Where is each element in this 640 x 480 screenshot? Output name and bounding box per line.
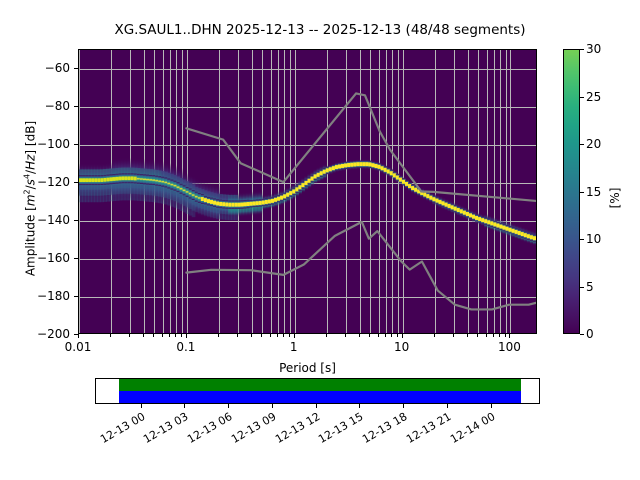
x-minor-tick bbox=[434, 334, 435, 337]
timeline-tick bbox=[228, 404, 229, 408]
figure-title-text: XG.SAUL1..DHN 2025-12-13 -- 2025-12-13 (… bbox=[114, 22, 525, 38]
x-minor-tick bbox=[129, 334, 130, 337]
x-minor-tick bbox=[453, 334, 454, 337]
x-minor-tick bbox=[499, 334, 500, 337]
colorbar-tick bbox=[580, 144, 584, 145]
x-minor-tick bbox=[391, 334, 392, 337]
noise-model-nhnm bbox=[186, 93, 536, 201]
x-major-tick bbox=[509, 334, 510, 338]
x-minor-tick bbox=[110, 334, 111, 337]
colorbar-tick bbox=[580, 239, 584, 240]
x-minor-tick bbox=[467, 334, 468, 337]
x-minor-tick bbox=[277, 334, 278, 337]
x-minor-tick bbox=[486, 334, 487, 337]
colorbar-tick-label: 20 bbox=[586, 137, 601, 151]
y-axis-label: Amplitude [m2/s4/Hz] [dB] bbox=[23, 89, 38, 309]
y-major-tick bbox=[74, 220, 78, 221]
colorbar-tick-label: 10 bbox=[586, 232, 601, 246]
x-minor-tick bbox=[143, 334, 144, 337]
x-major-tick bbox=[294, 334, 295, 338]
y-major-tick bbox=[74, 258, 78, 259]
x-minor-tick bbox=[237, 334, 238, 337]
y-major-tick bbox=[74, 144, 78, 145]
timeline-tick bbox=[359, 404, 360, 408]
x-minor-tick bbox=[385, 334, 386, 337]
timeline-tick bbox=[316, 404, 317, 408]
x-minor-tick bbox=[283, 334, 284, 337]
x-tick-label: 10 bbox=[394, 340, 409, 354]
data-coverage-bar bbox=[119, 391, 521, 403]
x-minor-tick bbox=[378, 334, 379, 337]
x-major-tick bbox=[402, 334, 403, 338]
x-minor-tick bbox=[369, 334, 370, 337]
x-minor-tick bbox=[270, 334, 271, 337]
y-axis-label-text: Amplitude [m2/s4/Hz] [dB] bbox=[24, 121, 38, 276]
colorbar-tick-label: 0 bbox=[586, 327, 594, 341]
timeline-tick bbox=[141, 404, 142, 408]
colorbar-tick bbox=[580, 287, 584, 288]
y-tick-label: −60 bbox=[22, 61, 70, 75]
colorbar-tick bbox=[580, 334, 584, 335]
ppsd-figure: XG.SAUL1..DHN 2025-12-13 -- 2025-12-13 (… bbox=[0, 0, 640, 480]
colorbar-tick-label: 30 bbox=[586, 42, 601, 56]
timeline-tick bbox=[491, 404, 492, 408]
x-tick-label: 1 bbox=[290, 340, 298, 354]
y-major-tick bbox=[74, 334, 78, 335]
y-major-tick bbox=[74, 296, 78, 297]
x-minor-tick bbox=[359, 334, 360, 337]
x-minor-tick bbox=[493, 334, 494, 337]
x-minor-tick bbox=[169, 334, 170, 337]
peterson-noise-models bbox=[79, 50, 536, 333]
colorbar-tick-label: 25 bbox=[586, 90, 601, 104]
colorbar-tick-label: 15 bbox=[586, 185, 601, 199]
figure-title: XG.SAUL1..DHN 2025-12-13 -- 2025-12-13 (… bbox=[0, 22, 640, 38]
colorbar-tick bbox=[580, 49, 584, 50]
colorbar-label: [%] bbox=[608, 138, 622, 258]
y-major-tick bbox=[74, 182, 78, 183]
x-tick-label: 100 bbox=[498, 340, 521, 354]
x-major-tick bbox=[78, 334, 79, 338]
x-minor-tick bbox=[181, 334, 182, 337]
x-minor-tick bbox=[153, 334, 154, 337]
timeline-tick bbox=[447, 404, 448, 408]
x-minor-tick bbox=[345, 334, 346, 337]
x-minor-tick bbox=[218, 334, 219, 337]
x-minor-tick bbox=[326, 334, 327, 337]
x-axis-label: Period [s] bbox=[78, 361, 537, 375]
x-minor-tick bbox=[175, 334, 176, 337]
colorbar-tick-label: 5 bbox=[586, 280, 594, 294]
colorbar-tick bbox=[580, 192, 584, 193]
x-minor-tick bbox=[505, 334, 506, 337]
x-minor-tick bbox=[397, 334, 398, 337]
x-tick-label: 0.1 bbox=[176, 340, 195, 354]
timeline-tick bbox=[184, 404, 185, 408]
colorbar-tick bbox=[580, 97, 584, 98]
x-tick-label: 0.01 bbox=[65, 340, 92, 354]
x-minor-tick bbox=[251, 334, 252, 337]
x-minor-tick bbox=[477, 334, 478, 337]
psd-coverage-bar bbox=[119, 379, 521, 391]
x-minor-tick bbox=[261, 334, 262, 337]
timeline-tick bbox=[403, 404, 404, 408]
y-tick-label: −200 bbox=[22, 327, 70, 341]
x-major-tick bbox=[186, 334, 187, 338]
x-minor-tick bbox=[162, 334, 163, 337]
y-major-tick bbox=[74, 68, 78, 69]
noise-model-nlnm bbox=[186, 222, 536, 310]
x-minor-tick bbox=[289, 334, 290, 337]
colorbar bbox=[563, 49, 580, 334]
data-coverage-timeline bbox=[95, 378, 540, 404]
y-major-tick bbox=[74, 106, 78, 107]
timeline-tick bbox=[272, 404, 273, 408]
ppsd-plot-area bbox=[78, 49, 537, 334]
